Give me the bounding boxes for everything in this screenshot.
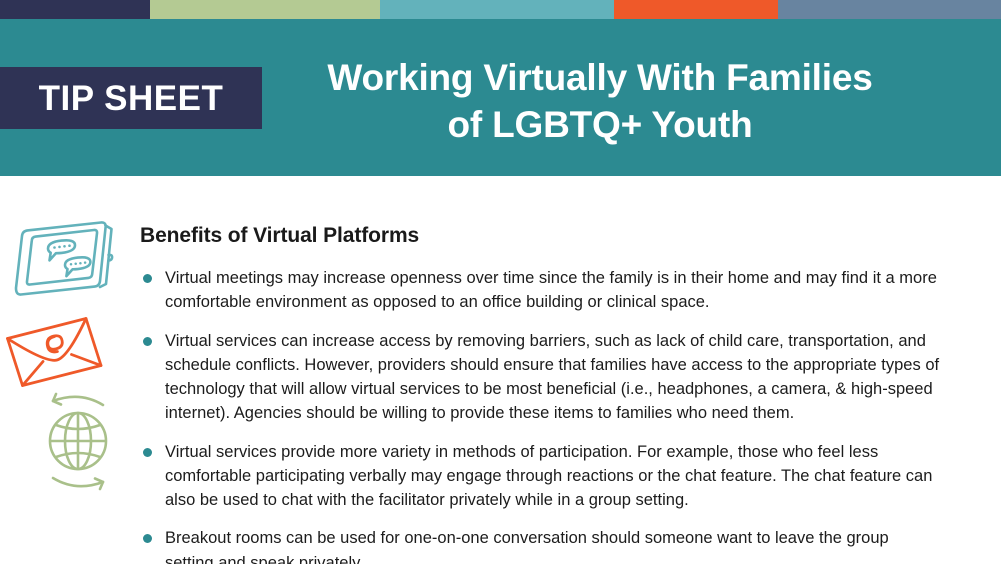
- color-segment-light-teal: [380, 0, 614, 19]
- bullet-dot-icon: [143, 448, 152, 457]
- page-title-line-2: of LGBTQ+ Youth: [270, 102, 930, 149]
- bullet-dot-icon: [143, 337, 152, 346]
- benefits-bullet-list: Virtual meetings may increase openness o…: [140, 266, 940, 564]
- page-title: Working Virtually With Families of LGBTQ…: [270, 55, 930, 149]
- list-item-text: Virtual services can increase access by …: [165, 332, 939, 423]
- list-item: Breakout rooms can be used for one-on-on…: [140, 526, 940, 564]
- bullet-dot-icon: [143, 274, 152, 283]
- list-item-text: Virtual services provide more variety in…: [165, 443, 932, 510]
- tip-sheet-page: TIP SHEET Working Virtually With Familie…: [0, 0, 1001, 564]
- page-title-line-1: Working Virtually With Families: [270, 55, 930, 102]
- icon-rail: [0, 176, 140, 564]
- list-item: Virtual services provide more variety in…: [140, 440, 940, 513]
- tip-sheet-badge-label: TIP SHEET: [39, 81, 224, 116]
- email-envelope-icon: [2, 316, 107, 393]
- bullet-dot-icon: [143, 534, 152, 543]
- color-segment-navy: [0, 0, 150, 19]
- tablet-chat-icon: [8, 218, 120, 307]
- color-segment-orange: [614, 0, 778, 19]
- globe-refresh-icon: [28, 386, 128, 499]
- body-area: Benefits of Virtual Platforms Virtual me…: [0, 176, 1001, 564]
- content-column: Benefits of Virtual Platforms Virtual me…: [140, 176, 940, 564]
- tip-sheet-badge: TIP SHEET: [0, 67, 262, 129]
- section-heading: Benefits of Virtual Platforms: [140, 224, 940, 248]
- color-segment-slate-blue: [778, 0, 1001, 19]
- header-band: TIP SHEET Working Virtually With Familie…: [0, 19, 1001, 176]
- color-segment-sage-green: [150, 0, 380, 19]
- list-item: Virtual services can increase access by …: [140, 329, 940, 426]
- list-item-text: Breakout rooms can be used for one-on-on…: [165, 529, 889, 564]
- top-color-bar: [0, 0, 1001, 19]
- list-item: Virtual meetings may increase openness o…: [140, 266, 940, 315]
- list-item-text: Virtual meetings may increase openness o…: [165, 269, 937, 311]
